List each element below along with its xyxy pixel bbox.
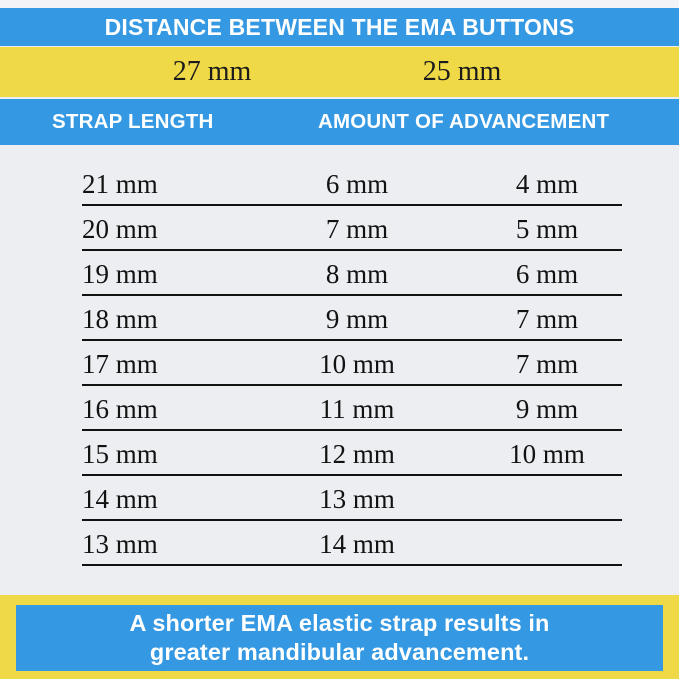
cell-advancement-27mm: 14 mm	[272, 527, 442, 561]
cell-advancement-25mm: 7 mm	[472, 347, 622, 381]
table-row: 20 mm 7 mm 5 mm	[82, 204, 622, 251]
table-row: 19 mm 8 mm 6 mm	[82, 249, 622, 296]
footer-callout: A shorter EMA elastic strap results in g…	[16, 605, 663, 671]
top-edge-strip	[0, 0, 679, 8]
button-distance-band: 27 mm 25 mm	[0, 47, 679, 97]
cell-strap-length: 17 mm	[82, 347, 252, 381]
cell-advancement-27mm: 11 mm	[272, 392, 442, 426]
cell-strap-length: 14 mm	[82, 482, 252, 516]
table-row: 13 mm 14 mm	[82, 519, 622, 566]
cell-advancement-25mm: 9 mm	[472, 392, 622, 426]
button-distance-27mm: 27 mm	[128, 47, 296, 97]
table-row: 14 mm 13 mm	[82, 474, 622, 521]
table-row: 21 mm 6 mm 4 mm	[82, 159, 622, 206]
column-header-band: STRAP LENGTH AMOUNT OF ADVANCEMENT	[0, 99, 679, 145]
cell-advancement-25mm: 6 mm	[472, 257, 622, 291]
table-row: 18 mm 9 mm 7 mm	[82, 294, 622, 341]
cell-advancement-27mm: 8 mm	[272, 257, 442, 291]
cell-strap-length: 15 mm	[82, 437, 252, 471]
cell-advancement-25mm: 7 mm	[472, 302, 622, 336]
cell-advancement-25mm: 5 mm	[472, 212, 622, 246]
cell-strap-length: 20 mm	[82, 212, 252, 246]
table-row: 17 mm 10 mm 7 mm	[82, 339, 622, 386]
cell-advancement-25mm	[472, 527, 622, 561]
infographic-table: DISTANCE BETWEEN THE EMA BUTTONS 27 mm 2…	[0, 0, 679, 679]
cell-advancement-25mm	[472, 482, 622, 516]
page-title: DISTANCE BETWEEN THE EMA BUTTONS	[105, 14, 575, 41]
cell-advancement-27mm: 10 mm	[272, 347, 442, 381]
cell-strap-length: 13 mm	[82, 527, 252, 561]
button-distance-25mm: 25 mm	[378, 47, 546, 97]
cell-advancement-27mm: 13 mm	[272, 482, 442, 516]
column-header-strap-length: STRAP LENGTH	[52, 99, 213, 145]
cell-strap-length: 19 mm	[82, 257, 252, 291]
footer-line-2: greater mandibular advancement.	[150, 638, 529, 667]
column-header-amount-of-advancement: AMOUNT OF ADVANCEMENT	[318, 99, 609, 145]
cell-strap-length: 16 mm	[82, 392, 252, 426]
cell-advancement-27mm: 7 mm	[272, 212, 442, 246]
cell-advancement-25mm: 10 mm	[472, 437, 622, 471]
title-band: DISTANCE BETWEEN THE EMA BUTTONS	[0, 8, 679, 46]
footer-line-1: A shorter EMA elastic strap results in	[130, 609, 550, 638]
table-row: 16 mm 11 mm 9 mm	[82, 384, 622, 431]
cell-advancement-25mm: 4 mm	[472, 167, 622, 201]
cell-advancement-27mm: 6 mm	[272, 167, 442, 201]
cell-strap-length: 21 mm	[82, 167, 252, 201]
cell-advancement-27mm: 9 mm	[272, 302, 442, 336]
table-row: 15 mm 12 mm 10 mm	[82, 429, 622, 476]
cell-advancement-27mm: 12 mm	[272, 437, 442, 471]
cell-strap-length: 18 mm	[82, 302, 252, 336]
table-body: 21 mm 6 mm 4 mm 20 mm 7 mm 5 mm 19 mm 8 …	[0, 145, 679, 595]
